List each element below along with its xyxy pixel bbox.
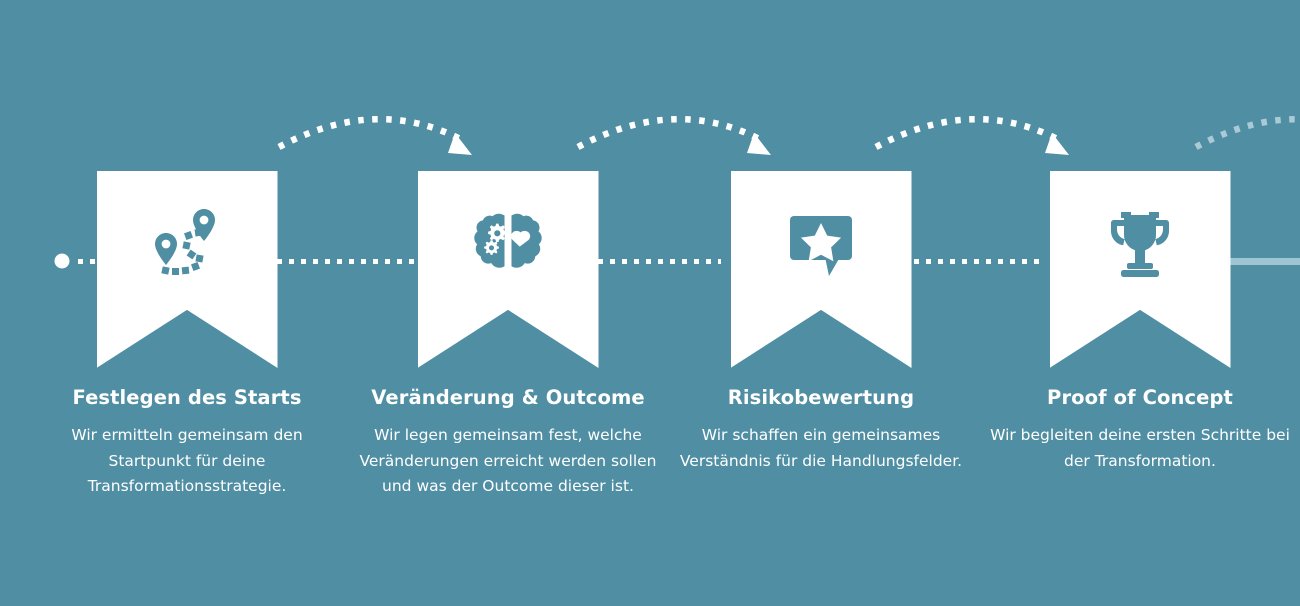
step-description-3: Wir schaffen ein gemeinsames Verständnis… (661, 423, 981, 473)
step-title-2: Veränderung & Outcome (348, 386, 668, 409)
ribbon-shape-1 (97, 171, 278, 368)
step-description-2: Wir legen gemeinsam fest, welche Verände… (348, 423, 668, 498)
speech-bubble-star-icon (778, 205, 864, 285)
ribbon-shape-3 (731, 171, 912, 368)
step-card-3[interactable]: Risikobewertung Wir schaffen ein gemeins… (661, 171, 981, 474)
brain-gears-heart-icon (465, 205, 551, 285)
infographic-stage: Festlegen des Starts Wir ermitteln gemei… (0, 0, 1300, 606)
step-description-4: Wir begleiten deine ersten Schritte bei … (980, 423, 1300, 473)
step-title-3: Risikobewertung (661, 386, 981, 409)
step-card-2[interactable]: Veränderung & Outcome Wir legen gemeinsa… (348, 171, 668, 499)
ribbon-shape-4 (1050, 171, 1231, 368)
step-card-4[interactable]: Proof of Concept Wir begleiten deine ers… (980, 171, 1300, 474)
step-title-1: Festlegen des Starts (27, 386, 347, 409)
route-map-pins-icon (144, 205, 230, 285)
step-title-4: Proof of Concept (980, 386, 1300, 409)
step-description-1: Wir ermitteln gemeinsam den Startpunkt f… (27, 423, 347, 498)
steps-container: Festlegen des Starts Wir ermitteln gemei… (0, 0, 1300, 606)
step-card-1[interactable]: Festlegen des Starts Wir ermitteln gemei… (27, 171, 347, 499)
trophy-icon (1097, 205, 1183, 285)
ribbon-shape-2 (418, 171, 599, 368)
